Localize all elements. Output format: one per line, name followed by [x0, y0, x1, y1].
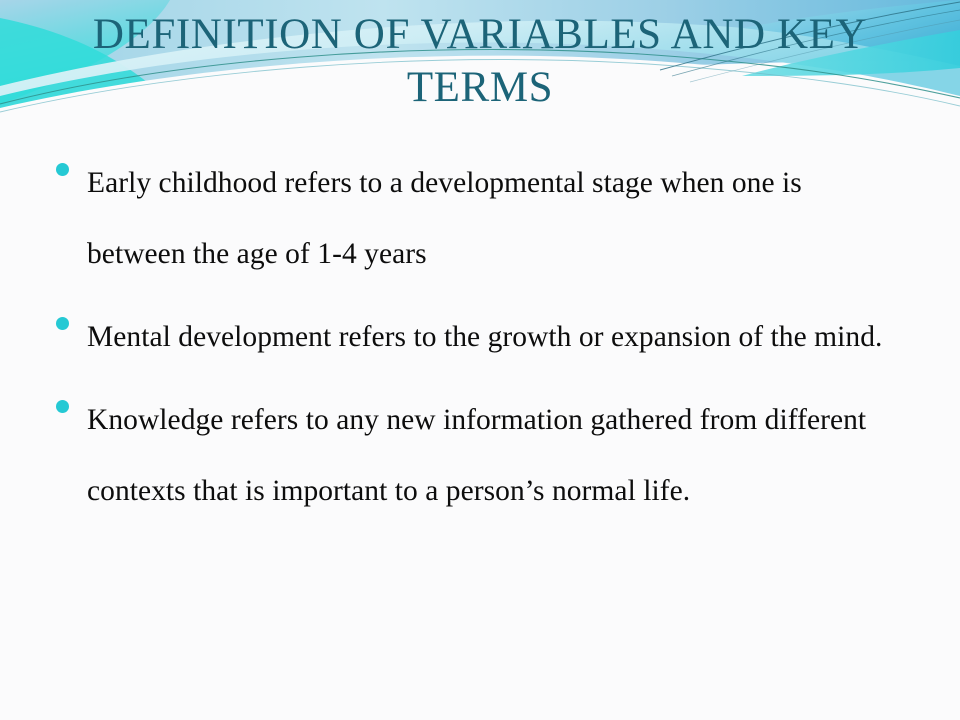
bullet-item-text: Early childhood refers to a developmenta…	[87, 148, 907, 290]
bullet-item-text: Mental development refers to the growth …	[87, 302, 917, 373]
bullet-dot-icon	[56, 400, 69, 413]
slide-title-text: DEFINITION OF VARIABLES AND KEY TERMS	[0, 8, 960, 114]
bullet-item-text: Knowledge refers to any new information …	[87, 385, 877, 527]
slide-title: DEFINITION OF VARIABLES AND KEY TERMS	[0, 8, 960, 114]
bullet-item: Mental development refers to the growth …	[0, 302, 960, 373]
bullet-item: Knowledge refers to any new information …	[0, 385, 960, 527]
presentation-slide: DEFINITION OF VARIABLES AND KEY TERMS Ea…	[0, 0, 960, 720]
bullet-dot-icon	[56, 163, 69, 176]
slide-body: Early childhood refers to a developmenta…	[0, 148, 960, 539]
bullet-dot-icon	[56, 317, 69, 330]
bullet-item: Early childhood refers to a developmenta…	[0, 148, 960, 290]
